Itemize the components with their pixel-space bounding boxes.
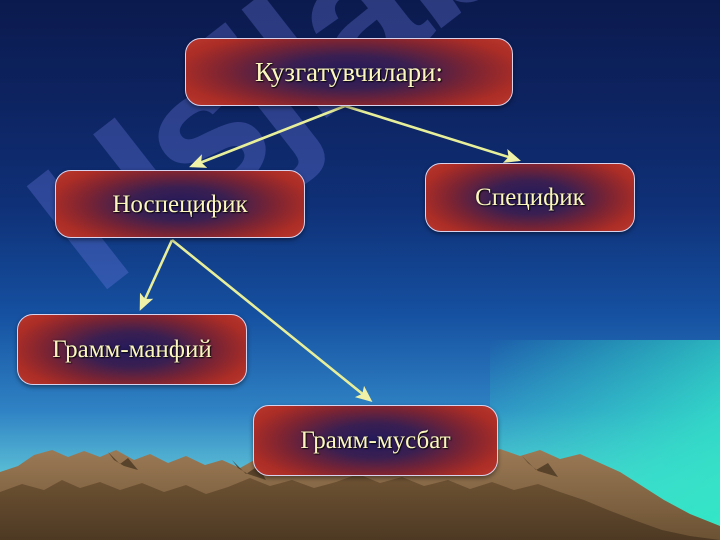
node-gram-negative-label: Грамм-манфий: [52, 337, 212, 362]
node-nonspecific-label: Носпецифик: [112, 192, 247, 217]
edge-root-to-nonspecific: [192, 106, 345, 166]
node-gram-positive[interactable]: Грамм-мусбат: [253, 405, 498, 476]
node-gram-negative[interactable]: Грамм-манфий: [17, 314, 247, 385]
node-specific-label: Специфик: [475, 185, 585, 210]
node-root-label: Кузгатувчилари:: [255, 59, 443, 86]
node-gram-positive-label: Грамм-мусбат: [300, 428, 450, 453]
node-specific[interactable]: Специфик: [425, 163, 635, 232]
node-root[interactable]: Кузгатувчилари:: [185, 38, 513, 106]
node-nonspecific[interactable]: Носпецифик: [55, 170, 305, 238]
slide-canvas: Hsjlab24: [0, 0, 720, 540]
edge-nonspecific-to-gram-neg: [141, 240, 172, 308]
edge-root-to-specific: [345, 106, 518, 160]
